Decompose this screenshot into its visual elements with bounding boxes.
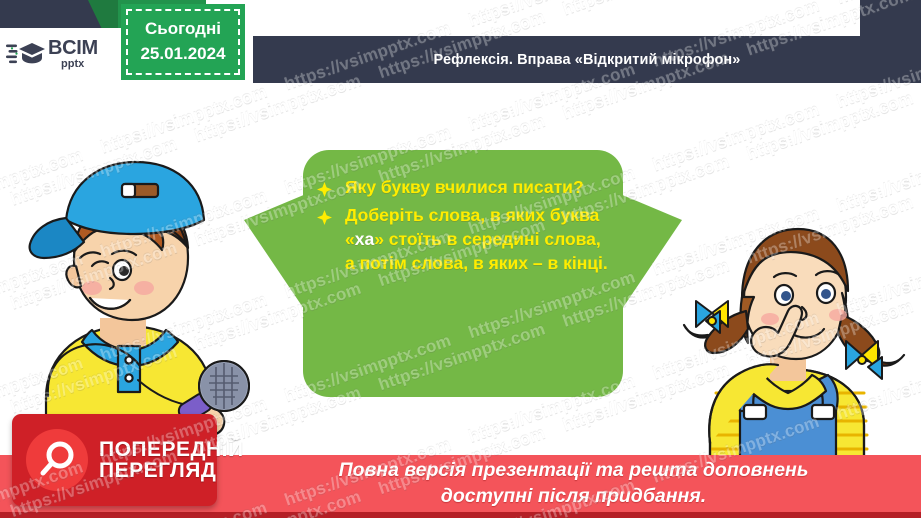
topbar-right-filler (860, 0, 921, 36)
question-highlight-ha: ха (355, 229, 374, 249)
bottom-banner-line-1: Повна версія презентації та решта доповн… (339, 458, 809, 484)
date-badge: Сьогодні 25.01.2024 (121, 4, 245, 80)
logo: BCIM pptx (0, 28, 121, 80)
preview-badge-line-1: ПОПЕРЕДНІЙ (99, 439, 244, 460)
list-item: Доберіть слова, в яких буква «ха» стоїть… (311, 204, 611, 276)
speech-bubble: Яку букву вчилися писати? Доберіть слова… (244, 150, 682, 397)
magnifier-icon (26, 429, 88, 491)
diamond-bullet-icon (317, 208, 332, 223)
slide-root: BCIM pptx Сьогодні 25.01.2024 Рефлексія.… (0, 0, 921, 518)
preview-badge[interactable]: ПОПЕРЕДНІЙ ПЕРЕГЛЯД (12, 414, 217, 506)
date-badge-date: 25.01.2024 (140, 42, 225, 67)
girl-thinking-illustration (666, 215, 911, 470)
question-text-2b: » стоїть в середині слова, а потім слова… (345, 229, 608, 273)
boy-with-microphone-illustration (18, 148, 273, 448)
header-bar: Рефлексія. Вправа «Відкритий мікрофон» (253, 36, 921, 83)
bottom-banner-foot (0, 512, 921, 518)
preview-badge-text: ПОПЕРЕДНІЙ ПЕРЕГЛЯД (99, 439, 244, 482)
question-text-1: Яку букву вчилися писати? (345, 177, 584, 197)
diamond-bullet-icon (317, 180, 332, 195)
logo-subtitle: pptx (61, 59, 98, 70)
logo-name: BCIM (48, 38, 98, 58)
question-list: Яку букву вчилися писати? Доберіть слова… (311, 176, 611, 276)
bottom-banner-line-2: доступні після придбання. (441, 484, 706, 510)
bottom-banner-text: Повна версія презентації та решта доповн… (226, 455, 921, 512)
date-badge-label: Сьогодні (145, 17, 221, 42)
speech-bubble-content: Яку букву вчилися писати? Доберіть слова… (303, 150, 623, 397)
list-item: Яку букву вчилися писати? (311, 176, 611, 200)
page-title: Рефлексія. Вправа «Відкритий мікрофон» (434, 52, 741, 68)
graduation-cap-icon (6, 39, 46, 69)
preview-badge-line-2: ПЕРЕГЛЯД (99, 460, 244, 481)
logo-text: BCIM pptx (48, 38, 98, 70)
